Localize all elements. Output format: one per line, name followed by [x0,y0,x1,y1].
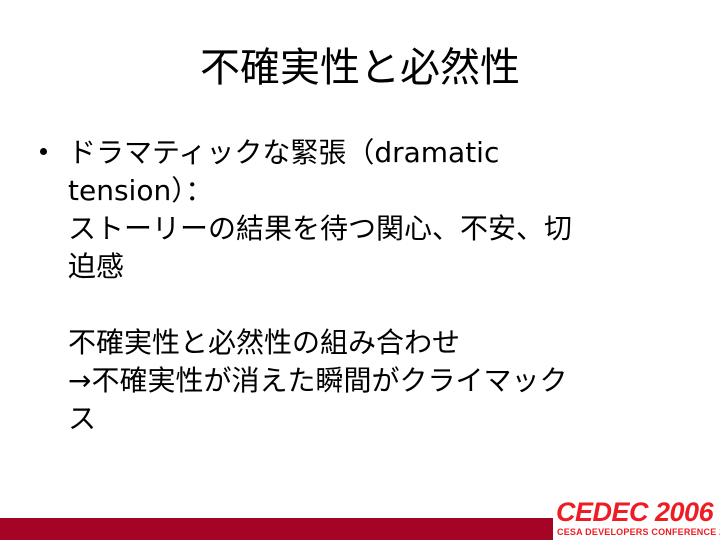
para-2-line-1: 不確実性と必然性の組み合わせ [68,324,690,362]
page-title: 不確実性と必然性 [0,44,720,92]
bullet-1-line-4: 迫感 [68,248,690,286]
presentation-slide: 不確実性と必然性 ドラマティックな緊張（dramatic tension）： ス… [0,0,720,540]
cedec-logo-title: CEDEC 2006 [556,499,713,526]
paragraph-2: 不確実性と必然性の組み合わせ →不確実性が消えた瞬間がクライマック ス [30,324,690,438]
para-2-line-2: →不確実性が消えた瞬間がクライマック [68,362,690,400]
paragraph-spacer [30,286,690,324]
bullet-1-line-2: tension）： [68,172,690,210]
slide-body: ドラマティックな緊張（dramatic tension）： ストーリーの結果を待… [30,134,690,438]
bullet-item-1: ドラマティックな緊張（dramatic tension）： ストーリーの結果を待… [30,134,690,286]
para-2-line-3: ス [68,400,690,438]
bullet-1-line-1: ドラマティックな緊張（dramatic [68,134,690,172]
cedec-logo-subtitle: CESA DEVELOPERS CONFERENCE 2006 [557,527,720,537]
bullet-1-line-3: ストーリーの結果を待つ関心、不安、切 [68,210,690,248]
footer-accent-bar [0,518,553,540]
cedec-logo: CEDEC 2006 CESA DEVELOPERS CONFERENCE 20… [556,499,720,540]
bullet-dot-icon [40,148,47,155]
